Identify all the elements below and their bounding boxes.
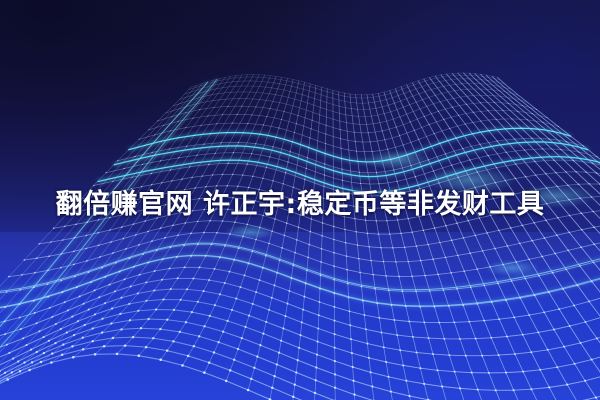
mesh-grid-lines	[0, 73, 600, 400]
mesh-highlight-ridges	[0, 79, 600, 400]
page-title: 翻倍赚官网 许正宇:稳定币等非发财工具	[0, 188, 600, 222]
banner-root: 翻倍赚官网 许正宇:稳定币等非发财工具	[0, 0, 600, 400]
